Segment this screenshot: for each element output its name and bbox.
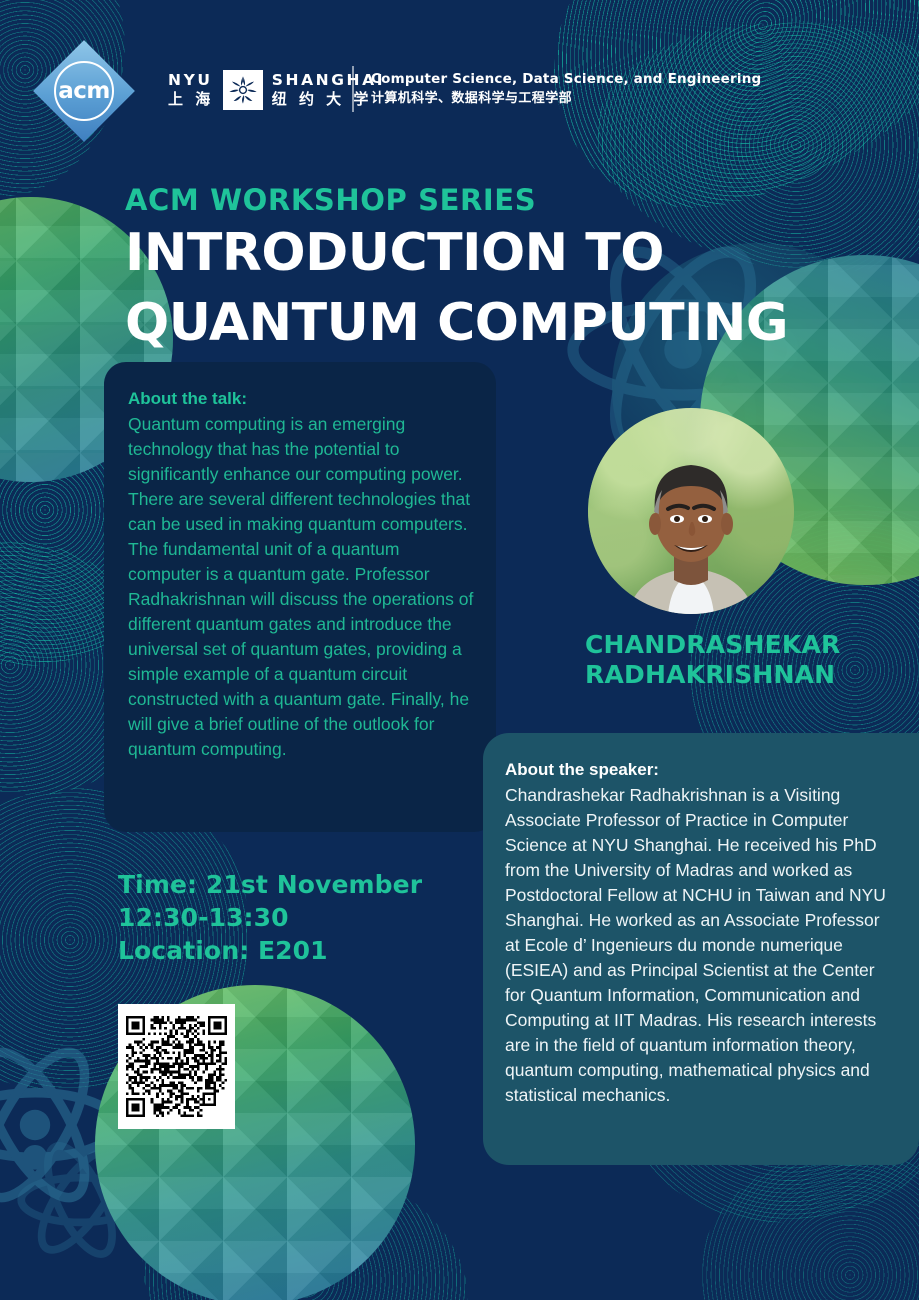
nyu-cn-right: 纽 约 大 学 (272, 90, 385, 109)
speaker-name-line-1: CHANDRASHEKAR (585, 630, 905, 660)
speaker-name-line-2: RADHAKRISHNAN (585, 660, 905, 690)
about-speaker-heading: About the speaker: (505, 757, 895, 783)
nyu-left-words: NYU 上 海 (168, 71, 214, 109)
about-speaker-panel: About the speaker: Chandrashekar Radhakr… (483, 733, 919, 1165)
nyu-en-left: NYU (168, 71, 214, 90)
event-location: Location: E201 (118, 934, 422, 967)
event-details: Time: 21st November 12:30-13:30 Location… (118, 868, 422, 967)
header-divider (352, 66, 354, 112)
qr-code[interactable] (118, 1004, 235, 1129)
department-name-en: Computer Science, Data Science, and Engi… (371, 70, 761, 89)
event-time-line-1: Time: 21st November (118, 868, 422, 901)
series-eyebrow: ACM WORKSHOP SERIES (125, 182, 788, 218)
department-name: Computer Science, Data Science, and Engi… (371, 70, 761, 109)
nyu-en-right: SHANGHAI (272, 71, 385, 90)
nyu-right-words: SHANGHAI 纽 约 大 学 (272, 71, 385, 109)
wireframe-mesh-icon (116, 1124, 494, 1300)
atom-icon (10, 1130, 150, 1270)
about-talk-panel: About the talk: Quantum computing is an … (104, 362, 496, 832)
acm-logo: acm (36, 43, 132, 139)
speaker-portrait (588, 408, 794, 614)
title-line-1: INTRODUCTION TO (125, 218, 788, 288)
acm-logo-text: acm (58, 80, 110, 103)
title-line-2: QUANTUM COMPUTING (125, 288, 788, 358)
nyu-cn-left: 上 海 (168, 90, 214, 109)
nyu-torch-icon (223, 70, 263, 110)
poster-root: acm NYU 上 海 (0, 0, 919, 1300)
portrait-figure (588, 408, 794, 614)
page-title: ACM WORKSHOP SERIES INTRODUCTION TO QUAN… (125, 182, 788, 358)
event-time-line-2: 12:30-13:30 (118, 901, 422, 934)
about-talk-heading: About the talk: (128, 386, 476, 411)
poster-header: acm NYU 上 海 (0, 0, 919, 150)
about-talk-body: Quantum computing is an emerging technol… (128, 412, 476, 762)
atom-icon (0, 1030, 130, 1220)
about-speaker-body: Chandrashekar Radhakrishnan is a Visitin… (505, 783, 895, 1108)
acm-ring-shape: acm (54, 61, 114, 121)
wireframe-mesh-icon (700, 1150, 919, 1300)
qr-code-icon[interactable] (126, 1012, 227, 1121)
department-name-cn: 计算机科学、数据科学与工程学部 (371, 89, 761, 109)
torch-glyph (226, 73, 260, 107)
speaker-name: CHANDRASHEKAR RADHAKRISHNAN (585, 630, 905, 690)
